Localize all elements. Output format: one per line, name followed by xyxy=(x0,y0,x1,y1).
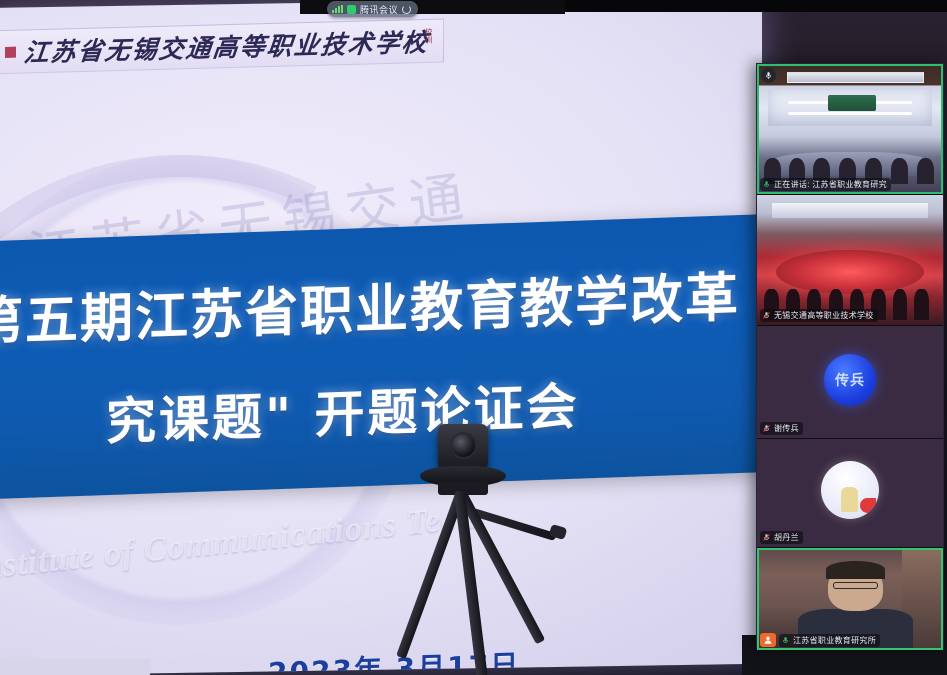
participant-tile[interactable]: 正在讲话: 江苏省职业教育研究 xyxy=(757,64,943,194)
tripod-leg xyxy=(396,490,466,659)
participant-tile[interactable]: 胡丹兰 xyxy=(757,439,943,547)
participant-name-label: 江苏省职业教育研究所 xyxy=(779,634,880,647)
school-name-banner: 江苏省无锡交通高等职业技术学校 校训 xyxy=(0,18,444,74)
tripod-stand xyxy=(398,424,568,675)
recording-ring-icon xyxy=(402,5,411,14)
floor-shadow-left xyxy=(0,659,150,675)
network-ok-icon xyxy=(347,5,356,14)
participant-tile[interactable]: 传兵 谢传兵 xyxy=(757,326,943,438)
participant-tile[interactable]: 无锡交通高等职业技术学校 xyxy=(757,195,943,325)
avatar: 传兵 xyxy=(824,354,876,406)
participant-name-label: 胡丹兰 xyxy=(760,531,803,544)
participant-name-label: 谢传兵 xyxy=(760,422,803,435)
signal-bars-icon xyxy=(332,5,343,13)
mic-muted-icon xyxy=(762,311,771,320)
speaker-avatar-icon xyxy=(761,68,776,83)
screenshot-root: 江苏省无锡交通 江苏省无锡交通高等职业技术学校 校训 第五期江苏省职业教育教学改… xyxy=(0,0,947,675)
red-seal-icon xyxy=(5,46,16,57)
mic-muted-icon xyxy=(762,533,771,542)
participant-name: 谢传兵 xyxy=(774,423,799,434)
video-feed-meeting-room xyxy=(757,64,943,194)
avatar xyxy=(821,461,879,519)
participant-name-label: 无锡交通高等职业技术学校 xyxy=(760,309,878,322)
avatar-initials: 传兵 xyxy=(835,370,865,390)
participant-tile[interactable]: 江苏省职业教育研究所 xyxy=(757,548,943,650)
status-pill-label: 腾讯会议 xyxy=(360,3,398,16)
mic-muted-icon xyxy=(762,424,771,433)
room-ceiling-dark xyxy=(560,0,947,12)
participant-name: 江苏省职业教育研究所 xyxy=(793,635,876,646)
video-feed-conference-hall xyxy=(757,195,943,325)
mic-on-icon xyxy=(781,636,790,645)
participant-name: 胡丹兰 xyxy=(774,532,799,543)
participant-sidebar[interactable]: 正在讲话: 江苏省职业教育研究 无锡交通高等职业技术学校 xyxy=(756,63,944,648)
participant-name: 无锡交通高等职业技术学校 xyxy=(774,310,874,321)
camera-lens-icon xyxy=(450,432,477,459)
tencent-meeting-status-pill[interactable]: 腾讯会议 xyxy=(327,1,418,17)
mic-on-icon xyxy=(762,180,771,189)
title-band xyxy=(0,214,762,500)
host-badge-icon xyxy=(760,633,776,647)
participant-name-label: 正在讲话: 江苏省职业教育研究 xyxy=(760,178,891,191)
participant-name: 正在讲话: 江苏省职业教育研究 xyxy=(774,179,887,190)
projection-screen: 江苏省无锡交通 江苏省无锡交通高等职业技术学校 校训 第五期江苏省职业教育教学改… xyxy=(0,0,762,675)
banner-side-note: 校训 xyxy=(423,28,434,44)
school-name-text: 江苏省无锡交通高等职业技术学校 xyxy=(22,23,431,70)
